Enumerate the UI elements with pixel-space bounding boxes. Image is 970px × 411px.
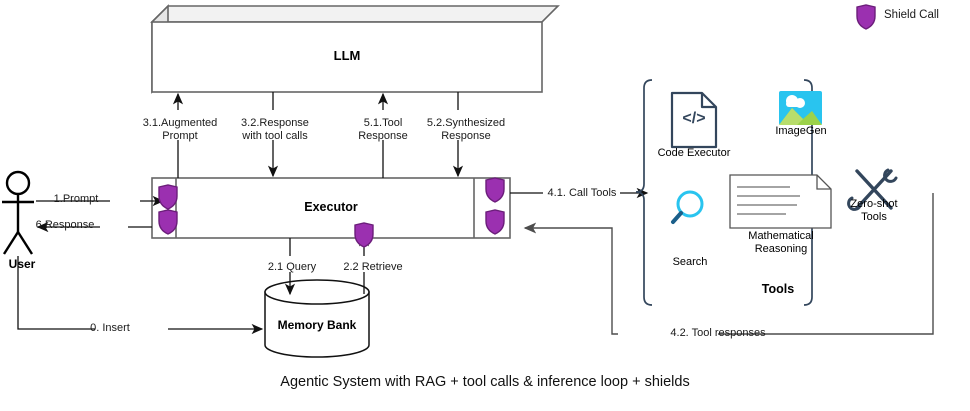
flow-label-4-2-tool-responses: 4.2. Tool responses [666, 327, 770, 340]
tool-label-math-reasoning: Mathematical Reasoning [732, 230, 830, 256]
magnifier-icon [673, 192, 702, 222]
shield-icon-memory-retrieve [353, 222, 375, 253]
memory-bank-label: Memory Bank [267, 319, 367, 332]
flow-label-5-2: 5.2.Synthesized Response [420, 117, 512, 143]
shield-icon-tools-in [484, 209, 506, 240]
flow-label-5-1: 5.1.Tool Response [347, 117, 419, 143]
image-picture-icon [779, 91, 822, 125]
executor-label: Executor [281, 201, 381, 214]
shield-icon-legend [855, 4, 877, 35]
flow-label-0-insert: 0. Insert [50, 322, 170, 335]
code-glyph: </> [672, 110, 716, 128]
diagram-canvas: LLM Executor Memory Bank User Tools Code… [0, 0, 970, 411]
tool-label-imagegen: ImageGen [757, 125, 845, 138]
tool-label-zero-shot-tools: Zero-shot Tools [838, 198, 910, 224]
tool-label-code-executor: Code Executor [644, 147, 744, 160]
legend-label: Shield Call [884, 9, 970, 22]
flow-label-1-prompt: 1.Prompt [0, 193, 152, 206]
flow-label-2-2-retrieve: 2.2 Retrieve [330, 261, 416, 274]
flow-label-2-1-query: 2.1 Query [254, 261, 330, 274]
shield-icon-executor-out-bottom [157, 209, 179, 240]
tool-label-search: Search [656, 256, 724, 269]
user-label: User [0, 258, 44, 271]
formula-document-icon [730, 175, 831, 228]
flow-label-6-response: 6.Response [0, 219, 130, 232]
flow-label-4-1-call-tools: 4.1. Call Tools [541, 187, 623, 200]
flow-4-2-return [525, 228, 618, 334]
tools-group-label: Tools [728, 283, 828, 296]
flow-label-3-1: 3.1.Augmented Prompt [140, 117, 220, 143]
user-node[interactable] [2, 172, 34, 254]
llm-label: LLM [302, 49, 392, 62]
diagram-caption: Agentic System with RAG + tool calls & i… [0, 374, 970, 390]
flow-label-3-2: 3.2.Response with tool calls [233, 117, 317, 143]
shield-icon-tools-out [484, 177, 506, 208]
